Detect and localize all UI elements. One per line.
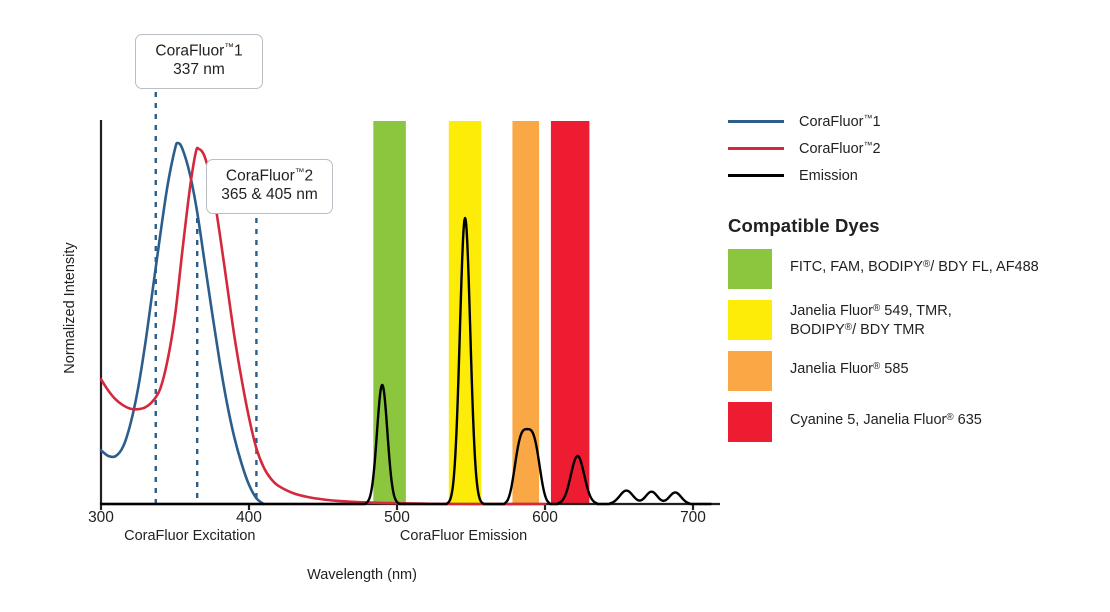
dye-color-swatch <box>728 351 772 391</box>
y-axis-title: Normalized Intensity <box>62 228 78 388</box>
trademark-symbol: ™ <box>295 167 305 178</box>
callout-corafluor-1: CoraFluor™1 337 nm <box>135 34 263 89</box>
yellow-band <box>449 121 482 504</box>
compatible-dyes-heading: Compatible Dyes <box>728 215 1103 237</box>
dye-color-swatch <box>728 300 772 340</box>
compatible-dyes-list: FITC, FAM, BODIPY®/ BDY FL, AF488Janelia… <box>728 249 1103 442</box>
registered-symbol: ® <box>946 412 953 423</box>
legend-item-label: CoraFluor™1 <box>799 113 881 130</box>
dye-color-swatch <box>728 402 772 442</box>
legend-item-2: CoraFluor™2 <box>728 135 1103 162</box>
legend-item-3: Emission <box>728 162 1103 189</box>
legend-line-swatch <box>728 120 784 123</box>
trademark-symbol: ™ <box>224 42 234 53</box>
legend-item-label: CoraFluor™2 <box>799 140 881 157</box>
x-tick-label-500: 500 <box>367 509 427 527</box>
chart-axes <box>100 120 720 510</box>
dye-color-swatch <box>728 249 772 289</box>
legend-series-list: CoraFluor™1CoraFluor™2Emission <box>728 108 1103 189</box>
callout-corafluor-2: CoraFluor™2 365 & 405 nm <box>206 159 333 214</box>
dye-label: Cyanine 5, Janelia Fluor® 635 <box>790 402 982 430</box>
compatible-dye-bands <box>373 121 589 504</box>
callout-cf1-value: 337 nm <box>148 61 250 80</box>
callout-cf2-value: 365 & 405 nm <box>219 186 320 205</box>
x-tick-label-400: 400 <box>219 509 279 527</box>
x-axis-region-label-excitation: CoraFluor Excitation <box>80 528 300 544</box>
dye-label-line: Janelia Fluor® 585 <box>790 360 909 379</box>
callout-cf2-title: CoraFluor™2 <box>219 167 320 186</box>
dye-row: Cyanine 5, Janelia Fluor® 635 <box>728 402 1103 442</box>
chart-page: CoraFluor™1 337 nm CoraFluor™2 365 & 405… <box>0 0 1110 612</box>
x-axis-region-label-emission: CoraFluor Emission <box>354 528 574 544</box>
x-tick-label-300: 300 <box>71 509 131 527</box>
legend-item-1: CoraFluor™1 <box>728 108 1103 135</box>
x-axis-title: Wavelength (nm) <box>212 567 512 583</box>
dye-label-line: Cyanine 5, Janelia Fluor® 635 <box>790 411 982 430</box>
orange-band <box>512 121 539 504</box>
red-band <box>551 121 589 504</box>
chart-legend: CoraFluor™1CoraFluor™2Emission Compatibl… <box>728 108 1103 453</box>
registered-symbol: ® <box>845 321 852 332</box>
legend-item-label: Emission <box>799 168 858 184</box>
dye-label: Janelia Fluor® 585 <box>790 351 909 379</box>
dye-label-line: Janelia Fluor® 549, TMR, <box>790 302 952 321</box>
dye-label: Janelia Fluor® 549, TMR,BODIPY®/ BDY TMR <box>790 300 952 339</box>
dye-label: FITC, FAM, BODIPY®/ BDY FL, AF488 <box>790 249 1039 277</box>
excitation-marker-lines <box>156 92 257 504</box>
dye-row: Janelia Fluor® 549, TMR,BODIPY®/ BDY TMR <box>728 300 1103 340</box>
x-tick-label-600: 600 <box>515 509 575 527</box>
dye-row: FITC, FAM, BODIPY®/ BDY FL, AF488 <box>728 249 1103 289</box>
callout-cf1-title: CoraFluor™1 <box>148 42 250 61</box>
legend-line-swatch <box>728 147 784 150</box>
dye-label-line: FITC, FAM, BODIPY®/ BDY FL, AF488 <box>790 258 1039 277</box>
dye-label-line: BODIPY®/ BDY TMR <box>790 321 952 340</box>
dye-row: Janelia Fluor® 585 <box>728 351 1103 391</box>
x-tick-label-700: 700 <box>663 509 723 527</box>
legend-line-swatch <box>728 174 784 177</box>
